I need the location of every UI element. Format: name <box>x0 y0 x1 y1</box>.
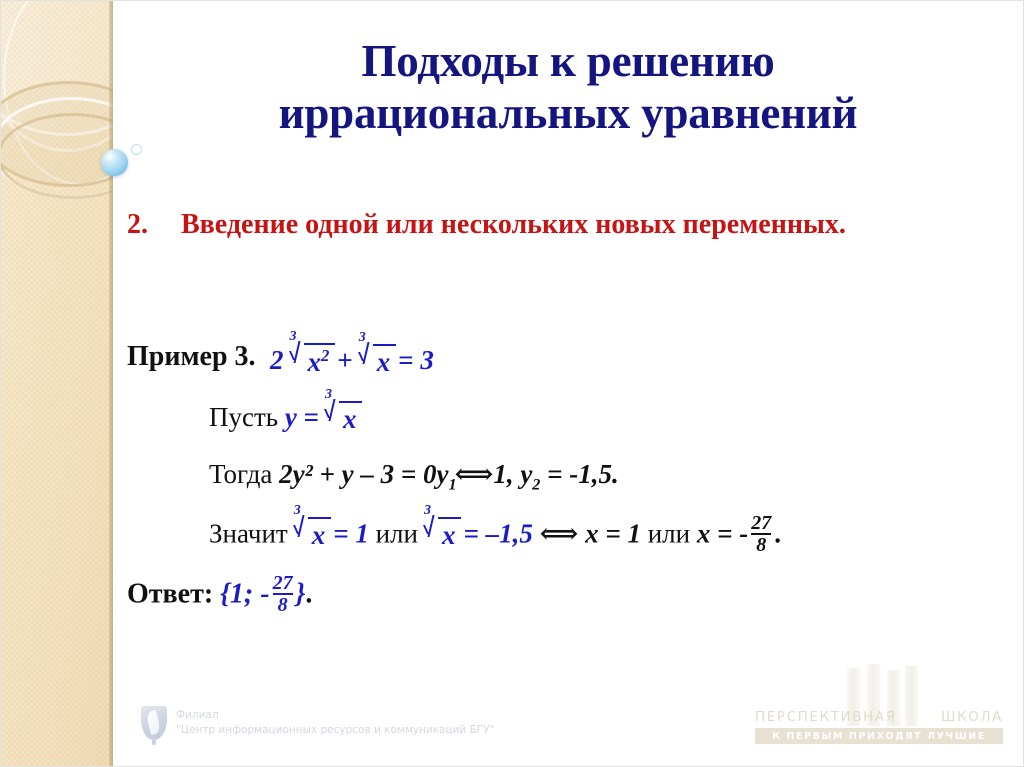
answer-fraction-denominator: 8 <box>273 593 293 615</box>
feather-icon <box>145 710 162 735</box>
solution-x-1: x = 1 <box>585 518 641 548</box>
fraction-denominator: 8 <box>751 533 771 555</box>
means-label: Значит <box>209 518 288 548</box>
equals-operator: = <box>398 345 413 375</box>
root-y2-value: = -1,5. <box>547 459 619 489</box>
cube-root-icon-5: 3x <box>421 517 462 551</box>
decorative-circle-5 <box>1 113 113 199</box>
cube-root-icon-4: 3x <box>291 517 332 551</box>
equation-rhs: 3 <box>420 345 434 375</box>
presentation-slide: Подходы к решению иррациональных уравнен… <box>0 0 1024 767</box>
point-text: Введение одной или нескольких новых пере… <box>181 209 846 240</box>
example-label-text: Пример 3. <box>127 341 256 372</box>
shield-icon <box>141 706 167 740</box>
slide-content: Подходы к решению иррациональных уравнен… <box>113 1 1024 767</box>
radicand-4: x <box>308 517 332 551</box>
brand-tagline: К ПЕРВЫМ ПРИХОДЯТ ЛУЧШИЕ <box>755 728 1003 744</box>
root-y2-subscript: 2 <box>532 475 540 493</box>
radicand: x2 <box>304 343 336 378</box>
means-equals-2: = –1,5 <box>463 518 532 548</box>
numbered-point: 2.Введение одной или нескольких новых пе… <box>127 207 937 244</box>
substitution-line: Пусть y =3x <box>209 401 364 435</box>
radicand-x: x <box>308 347 322 377</box>
page-title: Подходы к решению иррациональных уравнен… <box>123 35 1013 139</box>
footer-left-line-2: "Центр информационных ресурсов и коммуни… <box>176 723 494 738</box>
fraction-27-8: 278 <box>751 513 771 556</box>
title-line-2: иррациональных уравнений <box>123 87 1013 139</box>
equation-coefficient: 2 <box>270 345 284 375</box>
root-index-4: 3 <box>294 504 301 518</box>
answer-line: Ответ: {1; -278}. <box>127 573 312 616</box>
example-label: Пример 3. <box>127 341 256 373</box>
root-y1: y <box>437 459 449 489</box>
plus-operator: + <box>337 345 352 375</box>
root-index: 3 <box>290 330 297 344</box>
answer-label: Ответ: <box>127 578 213 609</box>
equivalence-arrow-icon: ⟺ <box>455 459 494 489</box>
root-y1-value: 1, <box>493 459 513 489</box>
footer-left-logo: Филиал "Центр информационных ресурсов и … <box>141 706 494 740</box>
solution-x-2: x = - <box>697 518 748 548</box>
footer-left-line-1: Филиал <box>176 708 494 723</box>
let-equals: = <box>304 402 319 432</box>
cube-root-icon-2: 3x <box>356 344 397 378</box>
quadratic-expression: 2y² + y – 3 = 0 <box>279 459 436 489</box>
let-variable: y <box>285 402 297 432</box>
answer-fraction-27-8: 278 <box>273 573 293 616</box>
conclusion-line: Значит3x= 1 или3x= –1,5 ⟺ x = 1 или x = … <box>209 513 781 556</box>
brand-row: ПЕРСПЕКТИВНАЯ ШКОЛА <box>755 709 1003 725</box>
root-y2: y <box>520 459 532 489</box>
let-label: Пусть <box>209 402 278 432</box>
radicand-2: x <box>373 344 397 378</box>
root-index-3: 3 <box>325 388 332 402</box>
radicand-exponent: 2 <box>321 346 329 365</box>
radicand-5: x <box>438 517 462 551</box>
period-1: . <box>774 518 781 548</box>
title-line-1: Подходы к решению <box>361 36 774 86</box>
quadratic-line: Тогда 2y² + y – 3 = 0y1⟺1, y2 = -1,5. <box>209 459 619 494</box>
answer-fraction-numerator: 27 <box>273 572 293 594</box>
cube-root-icon-3: 3x <box>322 401 363 435</box>
root-index-2: 3 <box>359 331 366 345</box>
footer-right-logo: ПЕРСПЕКТИВНАЯ ШКОЛА К ПЕРВЫМ ПРИХОДЯТ ЛУ… <box>755 709 1003 744</box>
means-equals-1: = 1 <box>333 518 369 548</box>
radicand-3: x <box>339 401 363 435</box>
answer-close: } <box>296 578 306 609</box>
fraction-numerator: 27 <box>751 512 771 534</box>
shield-stem <box>152 738 156 745</box>
point-number: 2. <box>127 207 181 244</box>
footer-left-text: Филиал "Центр информационных ресурсов и … <box>176 708 494 738</box>
period-2: . <box>305 578 312 609</box>
decorative-sidebar <box>1 1 113 767</box>
equivalence-arrow-icon-2: ⟺ <box>540 518 579 548</box>
then-label: Тогда <box>209 459 272 489</box>
root-index-5: 3 <box>424 504 431 518</box>
brand-word-left: ПЕРСПЕКТИВНАЯ <box>755 709 897 725</box>
example-equation: 23x2+3x= 3 <box>270 343 434 378</box>
brand-word-right: ШКОЛА <box>941 709 1003 725</box>
cube-root-icon: 3x2 <box>287 343 336 378</box>
means-or-2: или <box>648 518 690 548</box>
answer-open: {1; - <box>220 578 269 609</box>
means-or-1: или <box>376 518 418 548</box>
